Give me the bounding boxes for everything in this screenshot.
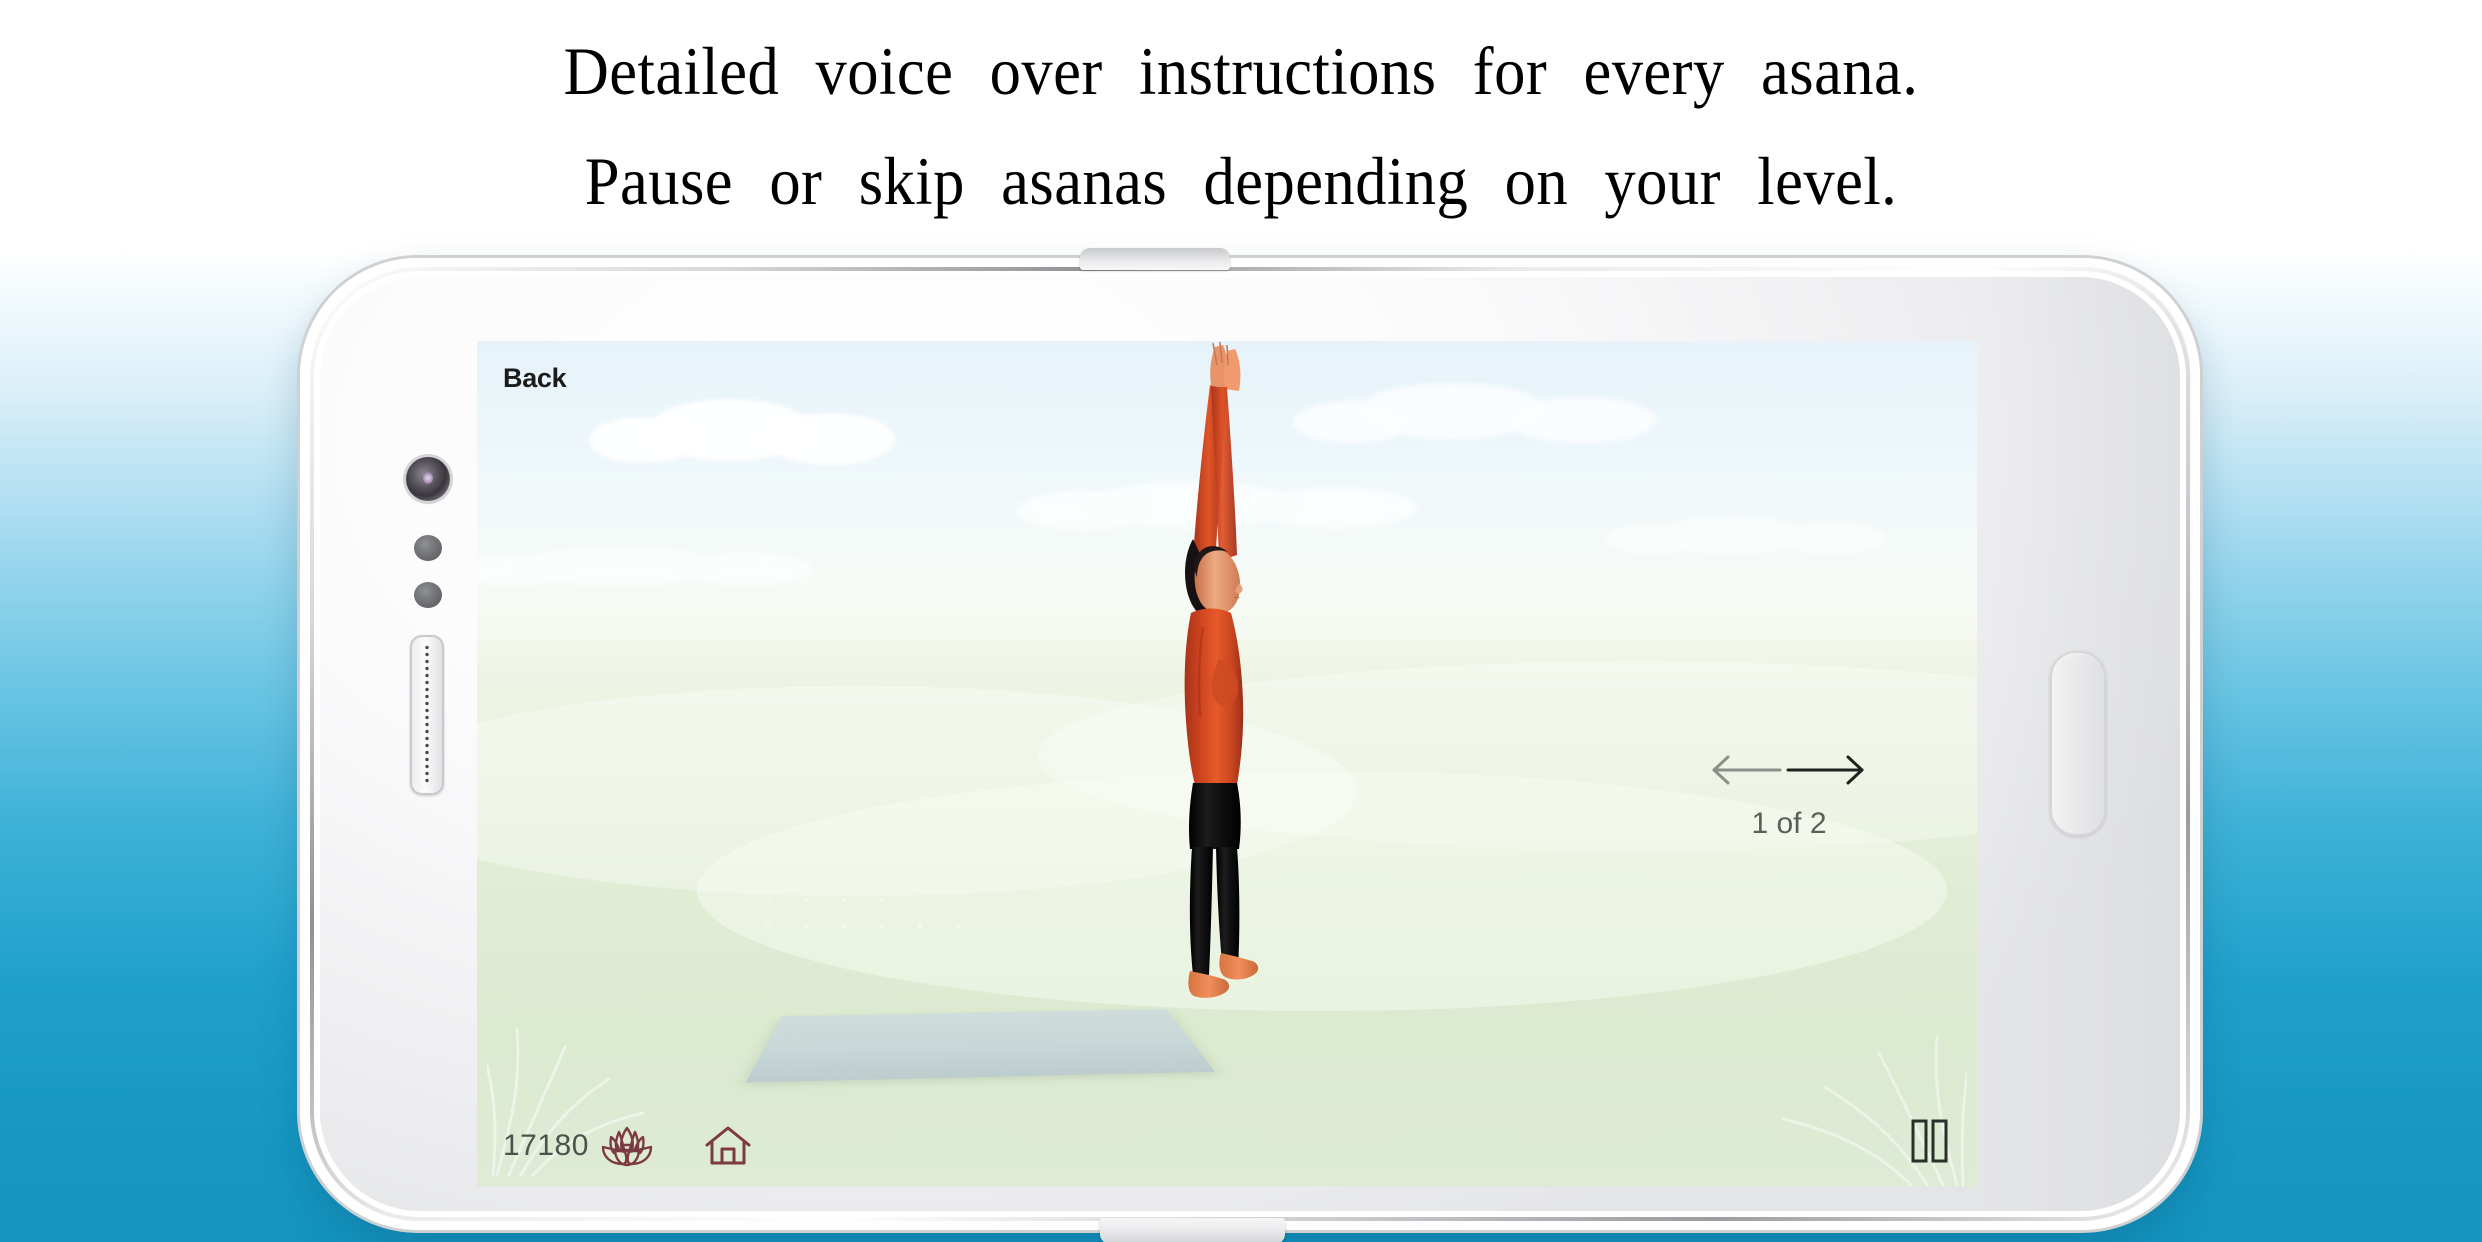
app-screen[interactable]: Back 1 of 2 [477,341,1977,1187]
camera-lens-icon [406,457,450,501]
yoga-avatar [1087,341,1367,1061]
cloud [517,546,717,586]
promo-headline: Detailed voice over instructions for eve… [0,16,2482,236]
pager-label: 1 of 2 [1689,807,1889,841]
cloud [1357,383,1547,439]
nav-arrows-group [1704,747,1874,793]
asana-navigation: 1 of 2 [1689,747,1889,841]
screen-bottom-bar: 17180 [477,1105,1977,1175]
avatar-pants-hip [1189,783,1241,849]
earpiece-speaker-grille [410,635,444,795]
power-button[interactable] [1080,248,1230,270]
ground-speckles [597,861,1117,981]
proximity-sensor-icon [414,535,442,561]
avatar-left-leg [1190,847,1213,975]
headline-line-2: Pause or skip asanas depending on your l… [99,126,2382,236]
avatar-right-foot [1219,953,1258,980]
avatar-hands [1210,342,1240,391]
cloud [647,399,812,461]
arrow-right-icon [1788,757,1862,783]
back-button[interactable]: Back [503,363,566,394]
bottom-connector-nub [1100,1218,1285,1242]
score-value: 17180 [503,1129,589,1163]
home-icon[interactable] [703,1123,753,1169]
score-display: 17180 [503,1123,655,1169]
light-sensor-icon [414,582,442,608]
phone-mockup: Back 1 of 2 [300,258,2200,1238]
phone-front-face: Back 1 of 2 [320,277,2180,1211]
lotus-icon [599,1123,655,1169]
cloud [1657,516,1807,554]
pause-icon[interactable] [1907,1117,1951,1165]
home-button[interactable] [2050,651,2106,836]
headline-line-1: Detailed voice over instructions for eve… [99,16,2382,126]
phone-body: Back 1 of 2 [300,258,2200,1230]
avatar-right-leg [1216,847,1239,973]
arrow-left-icon [1714,757,1780,783]
